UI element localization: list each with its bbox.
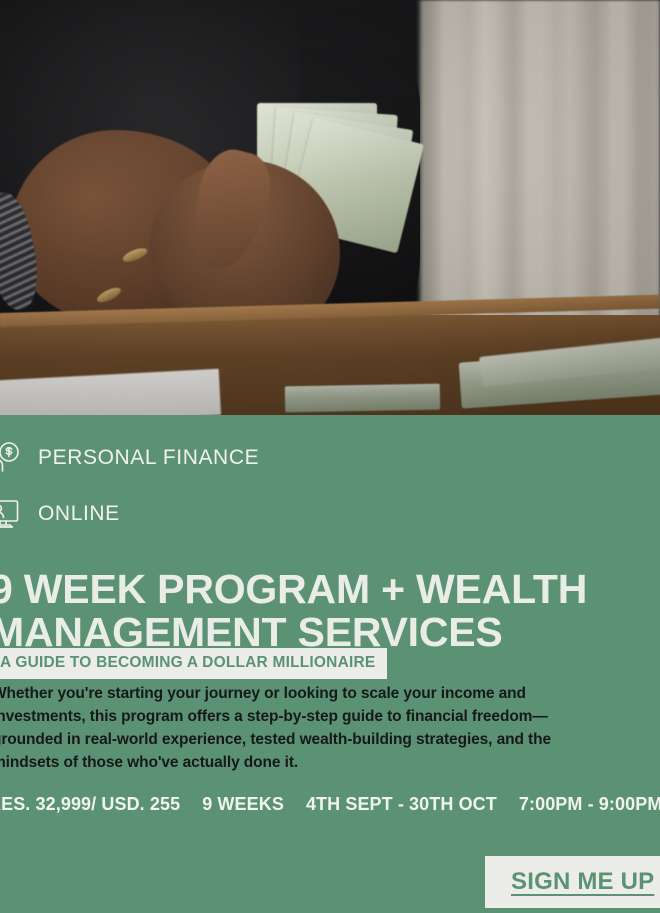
- sign-me-up-button[interactable]: SIGN ME UP: [485, 856, 660, 908]
- body-description: Whether you're starting your journey or …: [0, 683, 612, 775]
- hero-photo: [0, 0, 660, 415]
- online-monitor-icon: [0, 494, 24, 534]
- detail-dates: 4TH SEPT - 30TH OCT: [306, 794, 497, 815]
- course-details: KES. 32,999/ USD. 255 9 WEEKS 4TH SEPT -…: [0, 794, 660, 815]
- course-promo-poster: PERSONAL FINANCE ONLINE 9 WEEK PROGRAM +…: [0, 0, 660, 913]
- info-panel: PERSONAL FINANCE ONLINE 9 WEEK PROGRAM +…: [0, 415, 660, 913]
- detail-price: KES. 32,999/ USD. 255: [0, 794, 180, 815]
- category-online: ONLINE: [0, 494, 120, 534]
- sign-me-up-label: SIGN ME UP: [511, 868, 654, 896]
- body-line: Whether you're starting your journey or …: [0, 683, 612, 706]
- body-line: mindsets of those who've actually done i…: [0, 752, 612, 775]
- category-label: ONLINE: [38, 502, 120, 526]
- headline-line-1: 9 WEEK PROGRAM + WEALTH: [0, 566, 587, 612]
- detail-time: 7:00PM - 9:00PM EAT: [519, 794, 660, 815]
- body-line: investments, this program offers a step-…: [0, 706, 612, 729]
- personal-finance-icon: [0, 438, 24, 478]
- page-title: 9 WEEK PROGRAM + WEALTH MANAGEMENT SERVI…: [0, 568, 660, 653]
- subtitle-badge: A GUIDE TO BECOMING A DOLLAR MILLIONAIRE: [0, 648, 387, 679]
- detail-duration: 9 WEEKS: [202, 794, 284, 815]
- category-label: PERSONAL FINANCE: [38, 446, 259, 470]
- cash-stack: [285, 384, 440, 413]
- body-line: grounded in real-world experience, teste…: [0, 729, 612, 752]
- category-personal-finance: PERSONAL FINANCE: [0, 438, 259, 478]
